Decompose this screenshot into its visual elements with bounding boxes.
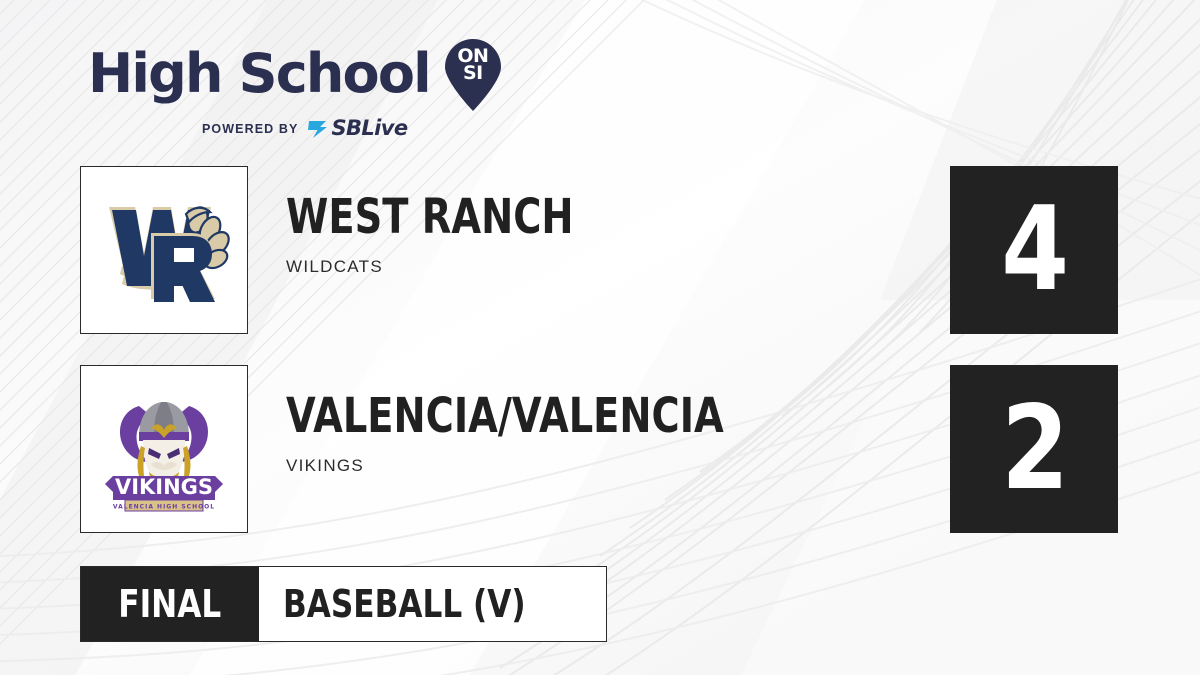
brand-logo-row: High School ON SI [88, 36, 506, 112]
team-score: 4 [1001, 192, 1067, 308]
team-row: WEST RANCH WILDCATS 4 [80, 166, 1200, 334]
sport-label-panel: BASEBALL (V) [259, 567, 607, 641]
team-mascot: WILDCATS [286, 257, 645, 277]
status-label: FINAL [118, 582, 221, 626]
onsi-badge-text: ON SI [440, 48, 506, 82]
team-score: 2 [1001, 391, 1067, 507]
team-score-box: 4 [950, 166, 1118, 334]
west-ranch-wildcats-logo-icon [80, 166, 248, 334]
game-status-bar: FINAL BASEBALL (V) [80, 566, 607, 642]
valencia-vikings-logo-icon: VIKINGS VALENCIA HIGH SCHOOL [80, 365, 248, 533]
svg-text:VIKINGS: VIKINGS [115, 475, 213, 499]
team-text-block: WEST RANCH WILDCATS [286, 194, 645, 277]
team-text-block: VALENCIA/VALENCIA VIKINGS [286, 393, 833, 476]
scoreboard-graphic: High School ON SI POWERED BY SBLive [0, 0, 1200, 675]
lightning-bolt-icon [306, 119, 328, 139]
team-score-box: 2 [950, 365, 1118, 533]
team-name: WEST RANCH [286, 194, 574, 241]
sport-label: BASEBALL (V) [283, 582, 526, 626]
svg-text:VALENCIA HIGH SCHOOL: VALENCIA HIGH SCHOOL [113, 504, 215, 511]
powered-by-label: POWERED BY [202, 122, 298, 136]
status-badge: FINAL [81, 567, 259, 641]
team-mascot: VIKINGS [286, 456, 833, 476]
team-row: VIKINGS VALENCIA HIGH SCHOOL VALENCIA/VA… [80, 365, 1200, 533]
powered-by-row: POWERED BY SBLive [202, 118, 506, 139]
map-pin-badge-icon: ON SI [440, 38, 506, 112]
sblive-wordmark: SBLive [331, 118, 407, 139]
brand-header: High School ON SI POWERED BY SBLive [88, 36, 506, 139]
brand-wordmark: High School [88, 47, 430, 101]
onsi-line-2: SI [440, 65, 506, 82]
sblive-lockup: SBLive [306, 118, 407, 139]
team-name: VALENCIA/VALENCIA [286, 393, 724, 440]
